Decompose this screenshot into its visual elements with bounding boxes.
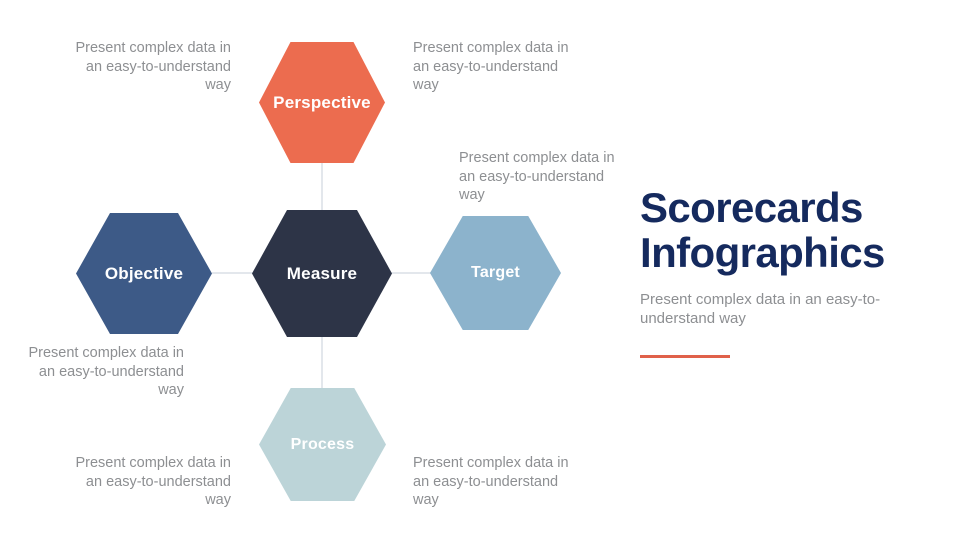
- infographic-canvas: Perspective Objective Measure Target Pro…: [0, 0, 980, 551]
- caption-objective: Present complex data in an easy-to-under…: [24, 344, 184, 400]
- hex-label-process: Process: [291, 437, 355, 453]
- hex-label-objective: Objective: [105, 265, 183, 282]
- page-title-line-2: Infographics: [640, 229, 885, 276]
- caption-perspective-right: Present complex data in an easy-to-under…: [413, 39, 573, 95]
- hex-node-objective[interactable]: Objective: [76, 213, 212, 334]
- caption-process-left: Present complex data in an easy-to-under…: [71, 454, 231, 510]
- hex-label-target: Target: [471, 265, 520, 281]
- page-title: Scorecards Infographics: [640, 186, 940, 276]
- hex-node-measure[interactable]: Measure: [252, 210, 392, 337]
- caption-process-right: Present complex data in an easy-to-under…: [413, 454, 573, 510]
- page-title-line-1: Scorecards: [640, 184, 863, 231]
- hex-node-process[interactable]: Process: [259, 388, 386, 501]
- caption-perspective-left: Present complex data in an easy-to-under…: [71, 39, 231, 95]
- hex-label-measure: Measure: [287, 265, 357, 282]
- hex-node-perspective[interactable]: Perspective: [259, 42, 385, 163]
- page-subtitle: Present complex data in an easy-to-under…: [640, 290, 885, 329]
- caption-target: Present complex data in an easy-to-under…: [459, 149, 619, 205]
- connector-measure-process: [321, 330, 323, 390]
- title-panel: Scorecards Infographics Present complex …: [640, 186, 940, 358]
- hex-label-perspective: Perspective: [273, 94, 371, 111]
- hex-node-target[interactable]: Target: [430, 216, 561, 330]
- accent-rule: [640, 355, 730, 358]
